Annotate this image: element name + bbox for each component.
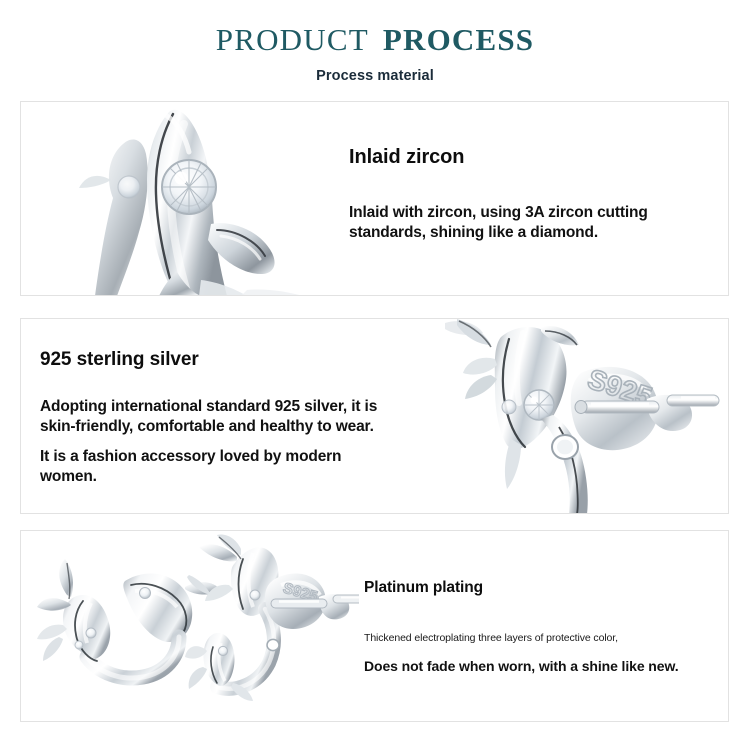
dolphin-hoop-earrings-pair-image: S925 — [29, 533, 359, 721]
panel-1-copy: Inlaid zircon Inlaid with zircon, using … — [349, 146, 709, 244]
page-header: PRODUCTPROCESS Process material — [0, 0, 750, 84]
dolphin-earring-closeup-image — [51, 102, 341, 296]
panel-3-body-bold: Does not fade when worn, with a shine li… — [364, 657, 714, 676]
panel-2-copy: 925 sterling silver Adopting internation… — [40, 349, 400, 488]
panel-1-heading: Inlaid zircon — [349, 146, 709, 169]
page-subtitle: Process material — [0, 68, 750, 84]
panel-2-heading: 925 sterling silver — [40, 349, 400, 371]
panel-3-heading: Platinum plating — [364, 579, 714, 597]
feature-panel-sterling-silver: 925 sterling silver Adopting internation… — [20, 318, 729, 514]
panel-2-body-line-2: It is a fashion accessory loved by moder… — [40, 447, 400, 488]
title-word-product: PRODUCT — [216, 22, 369, 57]
title-word-process: PROCESS — [383, 22, 534, 57]
panel-3-copy: Platinum plating Thickened electroplatin… — [364, 579, 714, 676]
panel-2-body-line-1: Adopting international standard 925 silv… — [40, 397, 400, 438]
page-title: PRODUCTPROCESS — [0, 24, 750, 57]
panel-1-body: Inlaid with zircon, using 3A zircon cutt… — [349, 203, 709, 244]
feature-panel-platinum-plating: S925 Platinum plating Thickened electrop… — [20, 530, 729, 722]
feature-panel-inlaid-zircon: Inlaid zircon Inlaid with zircon, using … — [20, 101, 729, 296]
dolphin-earring-with-back-image: S925 — [441, 319, 729, 514]
panel-3-body-thin: Thickened electroplating three layers of… — [364, 632, 714, 644]
